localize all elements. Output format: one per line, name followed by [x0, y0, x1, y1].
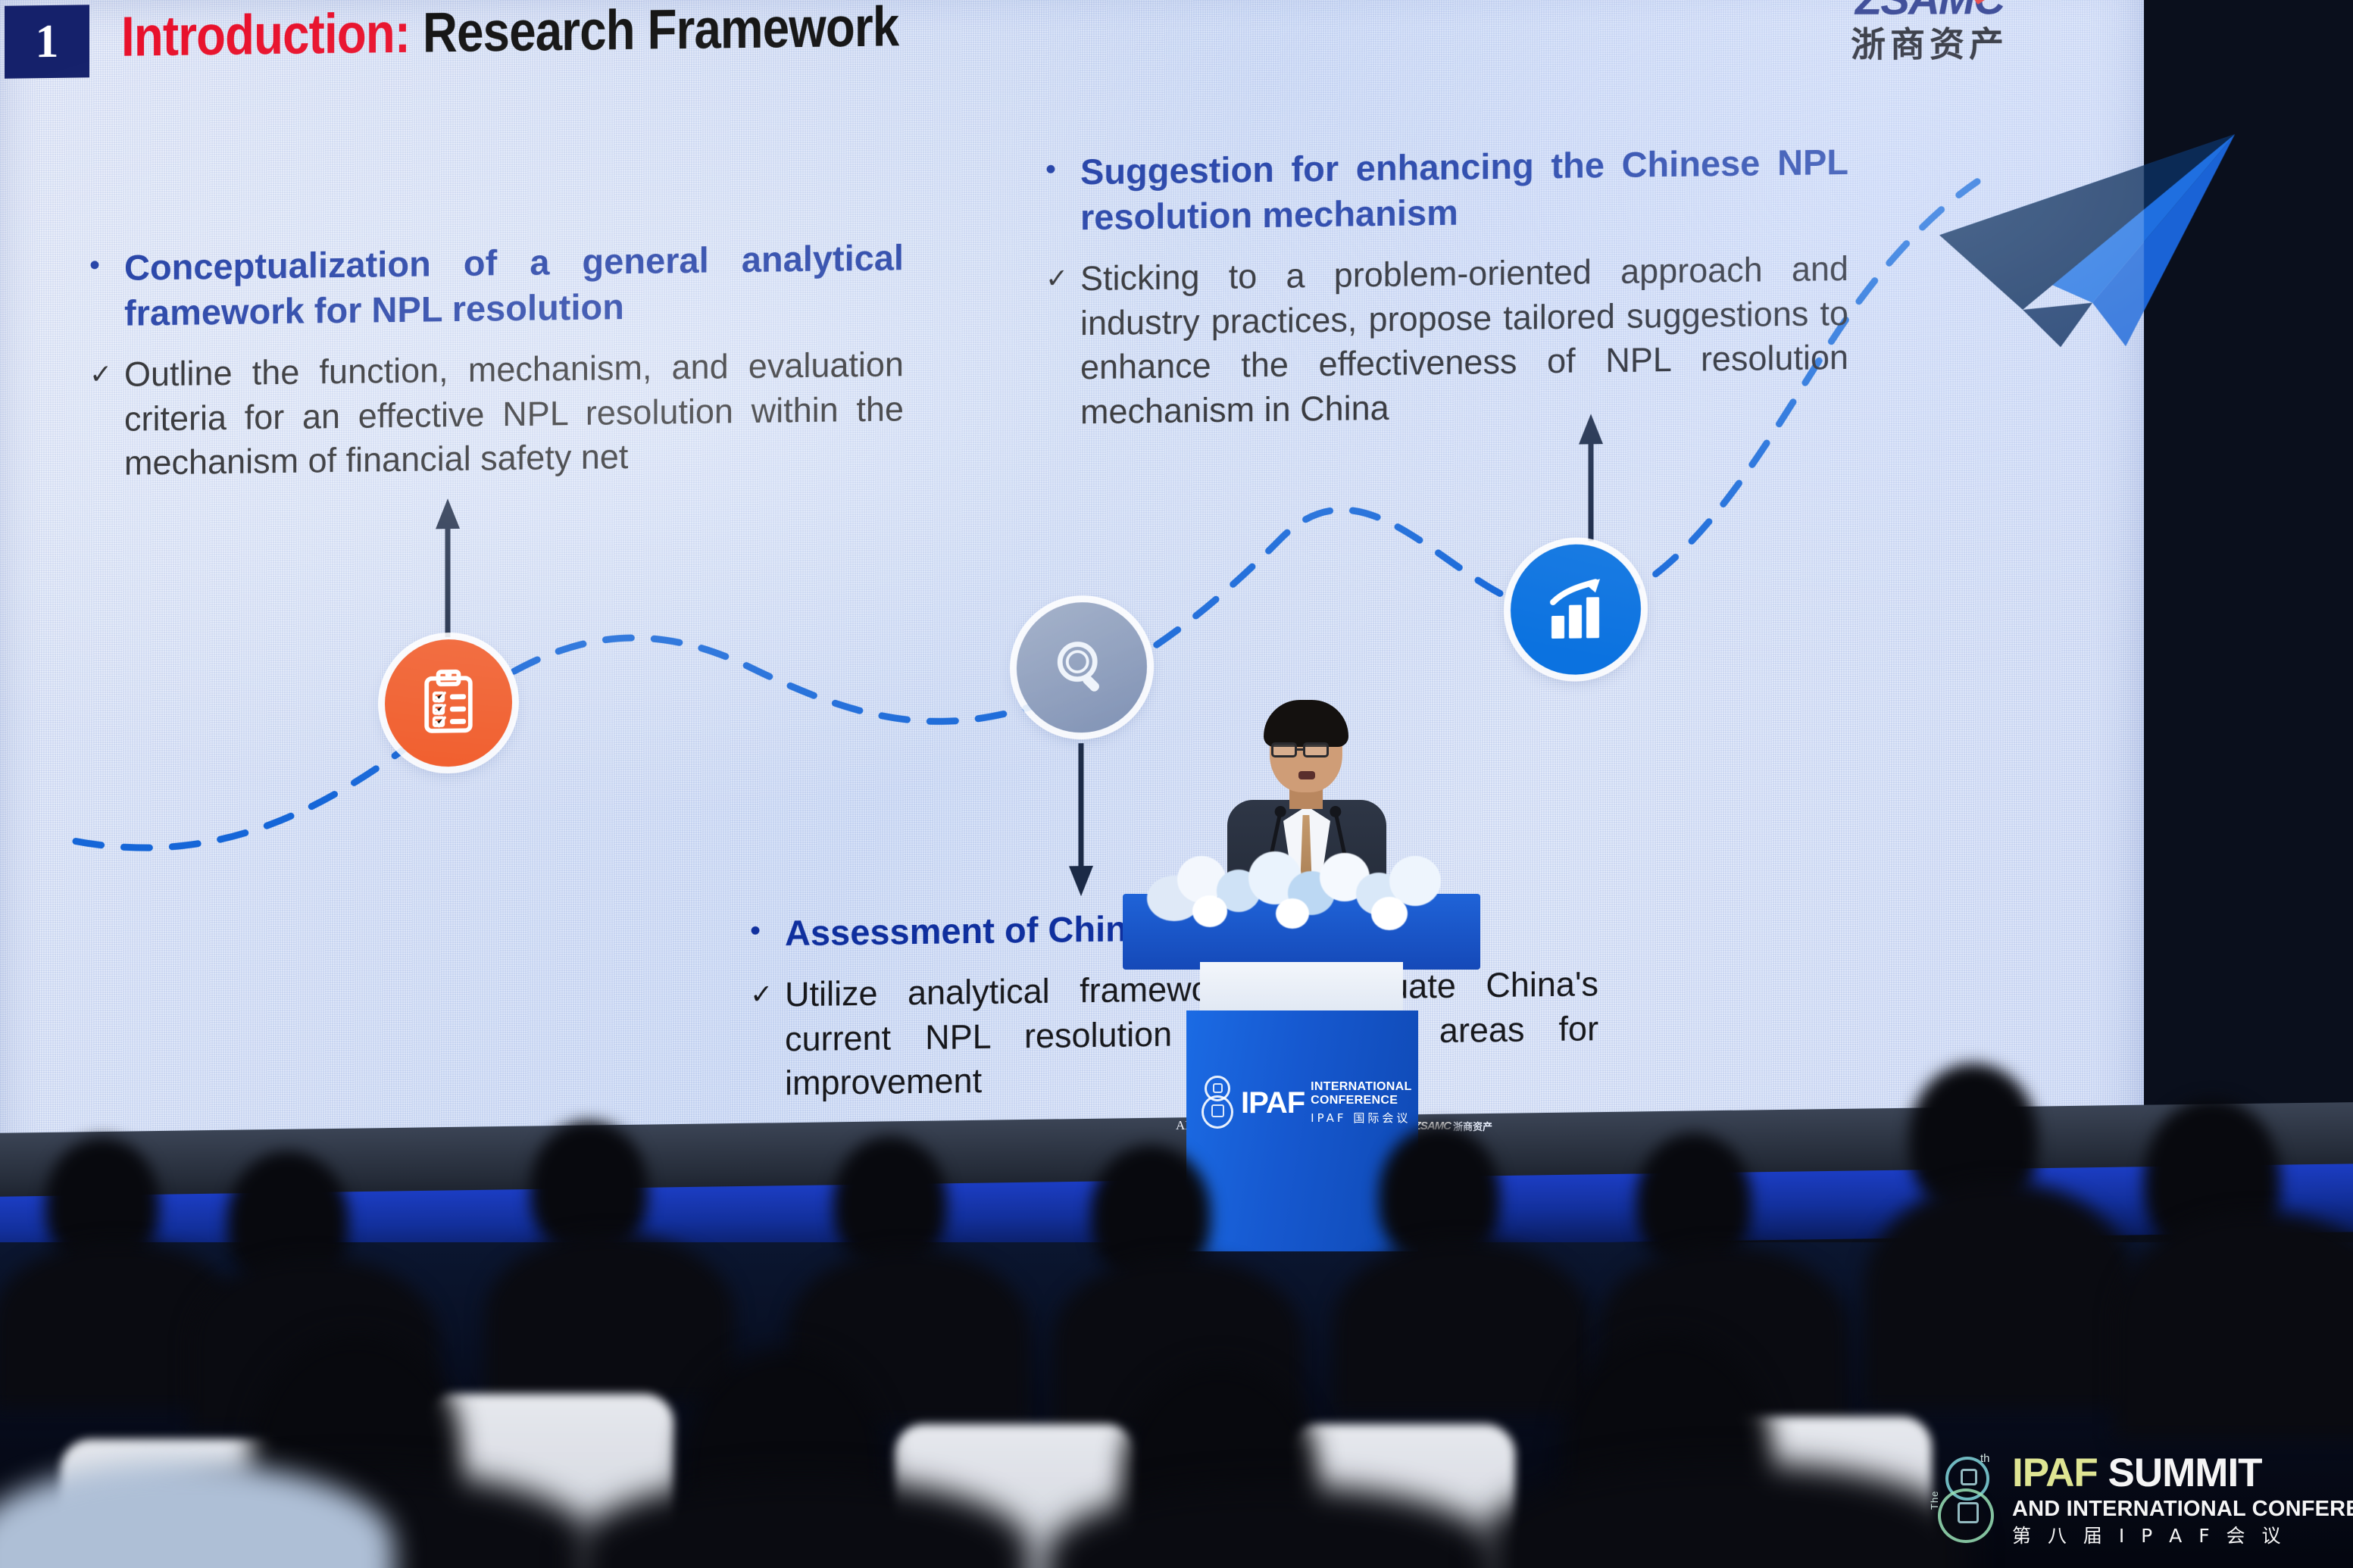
- slide-number-badge: 1: [5, 5, 89, 78]
- ipaf-8th-mark-icon: th The: [1932, 1454, 2001, 1545]
- podium-logo-international: INTERNATIONAL: [1311, 1080, 1411, 1093]
- bullet-dot-icon: •: [89, 245, 124, 286]
- bullet-detail-text: Outline the function, mechanism, and eva…: [124, 343, 904, 486]
- title-highlight: Introduction:: [121, 2, 410, 68]
- podium-front-panel: IPAF INTERNATIONAL CONFERENCE IPAF 国际会议: [1186, 1010, 1418, 1251]
- bullet-detail-row: ✓ Sticking to a problem-oriented approac…: [1045, 247, 1848, 435]
- speaker-glasses-bridge: [1297, 748, 1305, 751]
- watermark-ordinal: th: [1980, 1452, 1990, 1465]
- speaker-glasses-left: [1271, 742, 1297, 757]
- podium-logo-conference: CONFERENCE: [1311, 1094, 1398, 1107]
- checkmark-icon: ✓: [750, 973, 785, 1016]
- checkmark-icon: ✓: [89, 353, 124, 396]
- watermark-line2: AND INTERNATIONAL CONFERENCE: [2012, 1498, 2353, 1520]
- speaker-mouth: [1298, 771, 1315, 779]
- bullet-detail-text: Sticking to a problem-oriented approach …: [1080, 247, 1848, 434]
- zsamc-logo-en: ZSAMC: [1855, 0, 2004, 22]
- led-presentation-screen: 1 Introduction: Research Framework ZSAMC…: [0, 0, 2144, 1177]
- bullet-block-left: • Conceptualization of a general analyti…: [89, 235, 904, 486]
- podium-logo-chinese: IPAF 国际会议: [1311, 1110, 1411, 1126]
- bar-chart-growth-icon: [1511, 544, 1641, 676]
- bullet-heading-text: Conceptualization of a general analytica…: [124, 235, 904, 336]
- bullet-dot-icon: •: [1045, 149, 1080, 189]
- zsamc-logo: ZSAMC 浙商资产: [1812, 0, 2047, 65]
- zsamc-logo-cn: 浙商资产: [1812, 24, 2047, 65]
- podium-column: [1200, 962, 1403, 1017]
- bullet-dot-icon: •: [750, 911, 785, 951]
- podium-flower-arrangement: [1147, 848, 1458, 939]
- sponsor-logo-zsamc: ZSAMC 浙商资产: [1414, 1119, 1492, 1133]
- bullet-heading-row: • Suggestion for enhancing the Chinese N…: [1045, 139, 1848, 241]
- watermark-text: IPAF SUMMIT AND INTERNATIONAL CONFERENCE…: [2012, 1453, 2353, 1545]
- conference-photo-scene: 1 Introduction: Research Framework ZSAMC…: [0, 0, 2353, 1568]
- connector-arrow-left: [436, 498, 460, 637]
- speaker-hair: [1264, 700, 1348, 747]
- bullet-block-right: • Suggestion for enhancing the Chinese N…: [1045, 139, 1848, 435]
- title-rest: Research Framework: [423, 0, 898, 64]
- bullet-heading-text: Suggestion for enhancing the Chinese NPL…: [1080, 139, 1848, 241]
- page-title: Introduction: Research Framework: [121, 0, 898, 65]
- watermark-line1: IPAF SUMMIT: [2012, 1453, 2353, 1493]
- bullet-heading-row: • Conceptualization of a general analyti…: [89, 235, 904, 336]
- bullet-detail-row: ✓ Outline the function, mechanism, and e…: [89, 343, 904, 487]
- podium-and-speaker: ADB IPAF ZIB 浙江国贸 ZSAMC 浙商资产: [1089, 704, 1514, 1250]
- ipaf-summit-watermark: th The IPAF SUMMIT AND INTERNATIONAL CON…: [1932, 1450, 2326, 1548]
- speaker-glasses-right: [1303, 742, 1329, 757]
- right-wall-panel: [2126, 0, 2353, 1242]
- checkmark-icon: ✓: [1045, 258, 1080, 301]
- clipboard-checklist-icon: [385, 639, 512, 767]
- podium-logo-ipaf: IPAF: [1241, 1086, 1305, 1120]
- ipaf-8-mark-icon: [1200, 1076, 1235, 1130]
- watermark-the: The: [1929, 1491, 1940, 1510]
- podium-ipaf-logo: IPAF INTERNATIONAL CONFERENCE IPAF 国际会议: [1200, 1076, 1405, 1130]
- watermark-line3: 第 八 届 I P A F 会 议: [2012, 1526, 2353, 1545]
- connector-arrow-right: [1579, 414, 1603, 541]
